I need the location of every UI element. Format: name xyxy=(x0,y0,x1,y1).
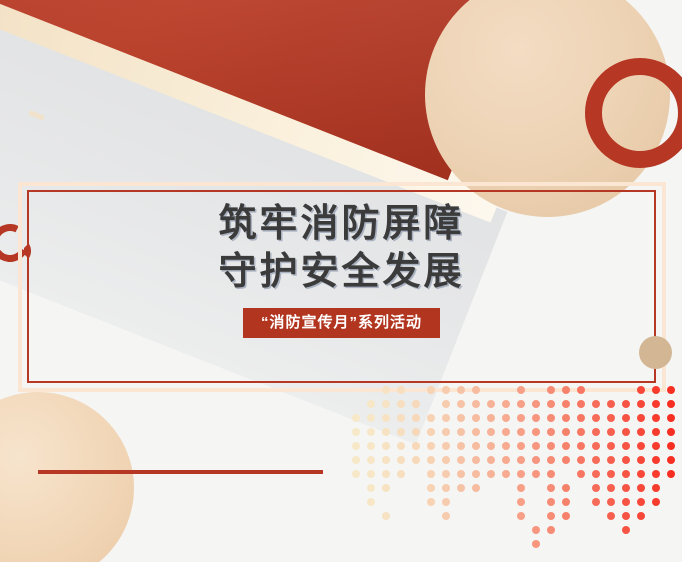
matrix-dot xyxy=(607,414,615,422)
matrix-dot xyxy=(397,456,405,464)
matrix-dot xyxy=(472,442,480,450)
matrix-dot xyxy=(397,400,405,408)
matrix-dot xyxy=(427,484,435,492)
matrix-dot xyxy=(382,512,390,520)
matrix-dot xyxy=(577,470,585,478)
matrix-dot xyxy=(607,484,615,492)
matrix-dot xyxy=(457,456,465,464)
matrix-dot xyxy=(412,400,420,408)
matrix-dot xyxy=(592,414,600,422)
diagonal-notch-accent xyxy=(28,110,45,121)
matrix-dot xyxy=(547,386,555,394)
matrix-dot xyxy=(532,526,540,534)
matrix-dot xyxy=(382,414,390,422)
matrix-dot xyxy=(502,442,510,450)
matrix-dot xyxy=(607,400,615,408)
matrix-dot xyxy=(382,470,390,478)
matrix-dot xyxy=(472,428,480,436)
matrix-dot xyxy=(562,456,570,464)
matrix-dot xyxy=(352,428,360,436)
matrix-dot xyxy=(622,414,630,422)
matrix-dot xyxy=(652,470,660,478)
matrix-dot xyxy=(667,442,675,450)
matrix-dot xyxy=(562,428,570,436)
matrix-dot xyxy=(607,428,615,436)
matrix-dot xyxy=(442,400,450,408)
matrix-dot xyxy=(517,512,525,520)
matrix-dot xyxy=(607,442,615,450)
matrix-dot xyxy=(607,456,615,464)
matrix-dot xyxy=(412,442,420,450)
matrix-dot xyxy=(577,456,585,464)
matrix-dot xyxy=(472,456,480,464)
matrix-dot xyxy=(382,442,390,450)
matrix-dot xyxy=(667,386,675,394)
matrix-dot xyxy=(487,414,495,422)
matrix-dot xyxy=(517,400,525,408)
matrix-dot xyxy=(442,414,450,422)
matrix-dot xyxy=(652,456,660,464)
matrix-dot xyxy=(457,386,465,394)
matrix-dot xyxy=(547,512,555,520)
matrix-dot xyxy=(517,484,525,492)
matrix-dot xyxy=(367,484,375,492)
matrix-dot xyxy=(577,400,585,408)
matrix-dot xyxy=(457,484,465,492)
matrix-dot xyxy=(367,428,375,436)
matrix-dot xyxy=(427,456,435,464)
matrix-dot xyxy=(562,442,570,450)
matrix-dot xyxy=(517,414,525,422)
matrix-dot xyxy=(592,484,600,492)
matrix-dot xyxy=(667,428,675,436)
matrix-dot xyxy=(517,442,525,450)
matrix-dot xyxy=(637,428,645,436)
matrix-dot xyxy=(532,428,540,436)
matrix-dot xyxy=(592,470,600,478)
matrix-dot xyxy=(637,386,645,394)
matrix-dot xyxy=(367,456,375,464)
fire-safety-poster: 筑牢消防屏障 守护安全发展 “消防宣传月”系列活动 xyxy=(0,0,682,562)
matrix-dot xyxy=(412,414,420,422)
matrix-dot xyxy=(352,442,360,450)
matrix-dot xyxy=(547,484,555,492)
matrix-dot xyxy=(502,400,510,408)
matrix-dot xyxy=(487,456,495,464)
headline-block: 筑牢消防屏障 守护安全发展 “消防宣传月”系列活动 xyxy=(27,200,656,338)
matrix-dot xyxy=(667,400,675,408)
matrix-dot xyxy=(652,442,660,450)
matrix-dot xyxy=(652,414,660,422)
matrix-dot xyxy=(622,456,630,464)
diagonal-red-band xyxy=(0,0,516,180)
matrix-dot xyxy=(652,428,660,436)
red-ring-top-right-icon xyxy=(585,58,682,168)
matrix-dot xyxy=(547,456,555,464)
matrix-dot xyxy=(397,442,405,450)
matrix-dot xyxy=(577,414,585,422)
bottom-red-rule xyxy=(38,470,323,474)
matrix-dot xyxy=(427,428,435,436)
tan-circle-bottom-left-icon xyxy=(0,392,134,562)
matrix-dot xyxy=(517,470,525,478)
matrix-dot xyxy=(457,470,465,478)
matrix-dot xyxy=(472,470,480,478)
matrix-dot xyxy=(547,400,555,408)
matrix-dot xyxy=(457,442,465,450)
matrix-dot xyxy=(442,512,450,520)
matrix-dot xyxy=(547,442,555,450)
matrix-dot xyxy=(427,470,435,478)
matrix-dot xyxy=(622,498,630,506)
matrix-dot xyxy=(367,470,375,478)
matrix-dot xyxy=(397,414,405,422)
matrix-dot xyxy=(517,428,525,436)
matrix-dot xyxy=(412,428,420,436)
matrix-dot xyxy=(532,540,540,548)
matrix-dot xyxy=(667,456,675,464)
matrix-dot xyxy=(637,414,645,422)
matrix-dot xyxy=(382,386,390,394)
matrix-dot xyxy=(622,512,630,520)
matrix-dot xyxy=(622,442,630,450)
matrix-dot xyxy=(382,456,390,464)
matrix-dot xyxy=(547,470,555,478)
tan-circle-top-right-icon xyxy=(425,0,670,217)
matrix-dot xyxy=(652,400,660,408)
matrix-dot xyxy=(367,400,375,408)
matrix-dot xyxy=(517,498,525,506)
matrix-dot xyxy=(427,498,435,506)
matrix-dot xyxy=(487,428,495,436)
matrix-dot xyxy=(367,414,375,422)
matrix-dot xyxy=(502,470,510,478)
matrix-dot xyxy=(547,498,555,506)
matrix-dot xyxy=(487,442,495,450)
badge-container: “消防宣传月”系列活动 xyxy=(27,308,656,338)
matrix-dot xyxy=(442,484,450,492)
matrix-dot xyxy=(517,456,525,464)
matrix-dot xyxy=(367,442,375,450)
diagonal-red-gloss xyxy=(0,0,516,180)
matrix-dot xyxy=(592,400,600,408)
matrix-dot xyxy=(637,400,645,408)
matrix-dot xyxy=(442,442,450,450)
matrix-dot xyxy=(517,386,525,394)
matrix-dot xyxy=(592,442,600,450)
matrix-dot xyxy=(607,498,615,506)
matrix-dot xyxy=(502,428,510,436)
matrix-dot xyxy=(622,428,630,436)
matrix-dot xyxy=(652,498,660,506)
matrix-dot xyxy=(667,470,675,478)
matrix-dot xyxy=(547,428,555,436)
matrix-dot xyxy=(487,400,495,408)
matrix-dot xyxy=(652,484,660,492)
matrix-dot xyxy=(352,414,360,422)
matrix-dot xyxy=(502,414,510,422)
matrix-dot xyxy=(532,442,540,450)
matrix-dot xyxy=(442,498,450,506)
matrix-dot xyxy=(667,414,675,422)
matrix-dot xyxy=(412,456,420,464)
matrix-dot xyxy=(442,386,450,394)
matrix-dot xyxy=(457,400,465,408)
matrix-dot xyxy=(427,386,435,394)
matrix-dot xyxy=(637,470,645,478)
matrix-dot xyxy=(637,484,645,492)
matrix-dot xyxy=(352,470,360,478)
matrix-dot xyxy=(637,456,645,464)
matrix-dot xyxy=(442,428,450,436)
matrix-dot xyxy=(622,470,630,478)
matrix-dot xyxy=(367,498,375,506)
headline-line-1: 筑牢消防屏障 xyxy=(27,200,656,248)
matrix-dot xyxy=(562,400,570,408)
matrix-dot xyxy=(592,428,600,436)
matrix-dot xyxy=(397,386,405,394)
matrix-dot xyxy=(607,470,615,478)
tan-circle-on-frame-icon xyxy=(639,336,672,369)
matrix-dot xyxy=(622,484,630,492)
matrix-dot xyxy=(397,470,405,478)
matrix-dot xyxy=(547,414,555,422)
matrix-dot xyxy=(637,498,645,506)
matrix-dot xyxy=(457,414,465,422)
matrix-dot xyxy=(607,512,615,520)
matrix-dot xyxy=(622,400,630,408)
matrix-dot xyxy=(352,456,360,464)
matrix-dot xyxy=(397,428,405,436)
matrix-dot xyxy=(487,470,495,478)
matrix-dot xyxy=(532,414,540,422)
matrix-dot xyxy=(637,512,645,520)
matrix-dot xyxy=(472,386,480,394)
matrix-dot xyxy=(562,498,570,506)
matrix-dot xyxy=(592,498,600,506)
matrix-dot xyxy=(532,456,540,464)
matrix-dot xyxy=(457,428,465,436)
matrix-dot xyxy=(577,442,585,450)
matrix-dot xyxy=(577,428,585,436)
matrix-dot xyxy=(562,386,570,394)
matrix-dot xyxy=(382,428,390,436)
matrix-dot xyxy=(442,456,450,464)
campaign-badge: “消防宣传月”系列活动 xyxy=(243,308,440,338)
matrix-dot xyxy=(562,484,570,492)
matrix-dot xyxy=(562,512,570,520)
headline-line-2: 守护安全发展 xyxy=(27,248,656,296)
matrix-dot xyxy=(637,442,645,450)
matrix-dot xyxy=(532,400,540,408)
matrix-dot xyxy=(472,484,480,492)
matrix-dot xyxy=(442,470,450,478)
matrix-dot xyxy=(382,484,390,492)
matrix-dot xyxy=(562,414,570,422)
matrix-dot xyxy=(472,414,480,422)
matrix-dot xyxy=(502,456,510,464)
matrix-dot xyxy=(592,456,600,464)
matrix-dot xyxy=(622,526,630,534)
diagonal-cream-band xyxy=(0,0,507,223)
matrix-dot xyxy=(472,400,480,408)
matrix-dot xyxy=(427,414,435,422)
gradient-dot-matrix xyxy=(352,386,682,562)
matrix-dot xyxy=(382,400,390,408)
matrix-dot xyxy=(547,526,555,534)
matrix-dot xyxy=(652,386,660,394)
matrix-dot xyxy=(577,386,585,394)
matrix-dot xyxy=(427,442,435,450)
matrix-dot xyxy=(532,470,540,478)
